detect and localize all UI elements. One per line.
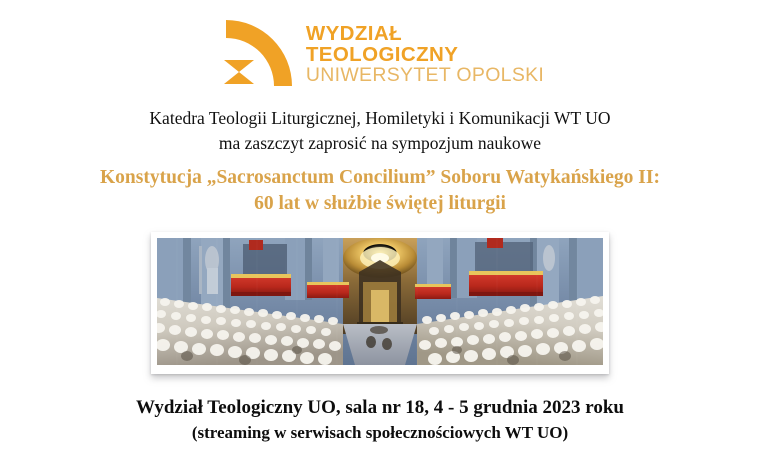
logo-line-teologiczny: TEOLOGICZNY (306, 45, 544, 66)
intro-text-block: Katedra Teologii Liturgicznej, Homiletyk… (149, 106, 610, 156)
logo-line-uniwersytet-opolski: UNIWERSYTET OPOLSKI (306, 66, 544, 86)
logo-block: WYDZIAŁ TEOLOGICZNY UNIWERSYTET OPOLSKI (216, 14, 544, 92)
photo-frame (151, 232, 609, 374)
symposium-title-line-1: Konstytucja „Sacrosanctum Concilium” Sob… (100, 165, 660, 192)
event-details-block: Wydział Teologiczny UO, sala nr 18, 4 - … (136, 394, 624, 446)
logo-line-wydzial: WYDZIAŁ (306, 24, 544, 45)
logo-wordmark: WYDZIAŁ TEOLOGICZNY UNIWERSYTET OPOLSKI (306, 20, 544, 87)
poster-canvas: WYDZIAŁ TEOLOGICZNY UNIWERSYTET OPOLSKI … (0, 0, 760, 456)
symposium-title-line-2: 60 lat w służbie świętej liturgii (100, 191, 660, 218)
intro-line-1: Katedra Teologii Liturgicznej, Homiletyk… (149, 106, 610, 131)
event-venue-and-date: Wydział Teologiczny UO, sala nr 18, 4 - … (136, 394, 624, 422)
symposium-title-block: Konstytucja „Sacrosanctum Concilium” Sob… (100, 165, 660, 218)
wt-uo-logo-mark-icon (216, 16, 294, 90)
vatican-ii-council-photo (157, 238, 603, 365)
event-streaming-note: (streaming w serwisach społecznościowych… (136, 421, 624, 446)
intro-line-2: ma zaszczyt zaprosić na sympozjum naukow… (149, 131, 610, 156)
